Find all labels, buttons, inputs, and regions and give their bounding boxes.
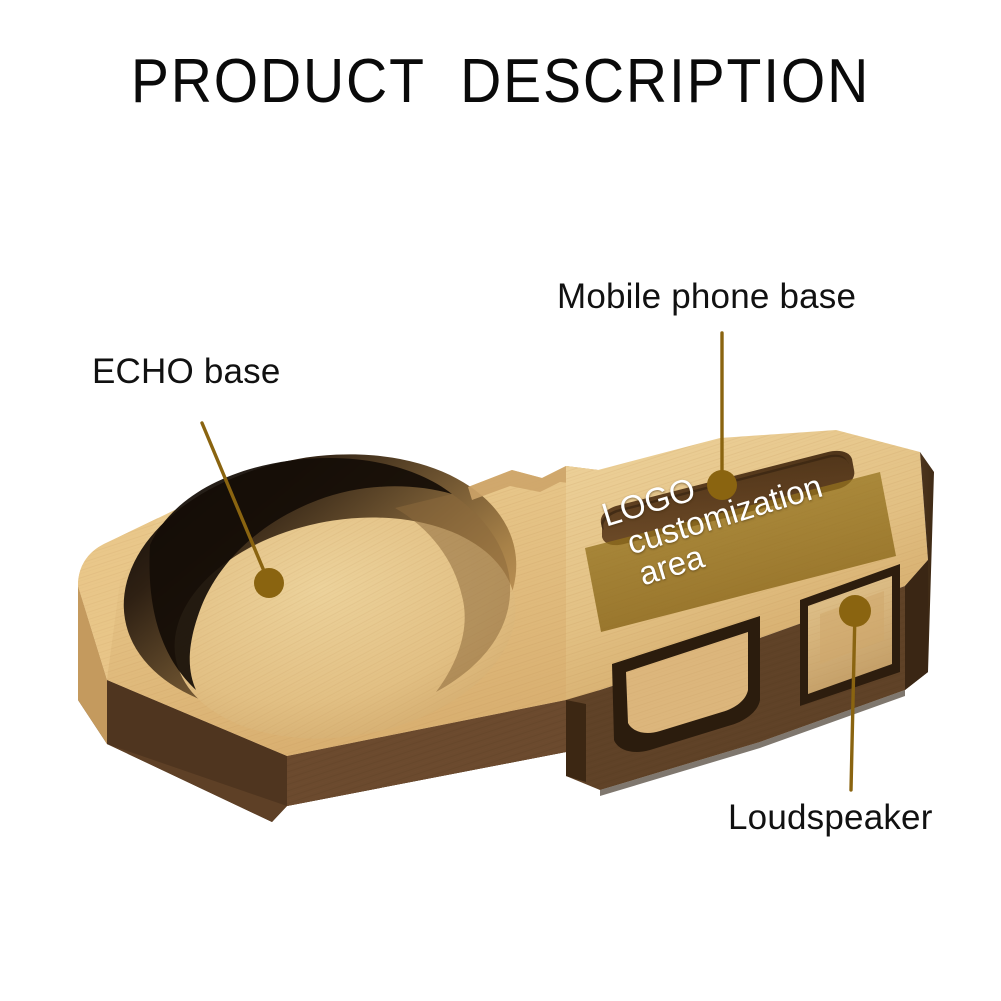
product-illustration <box>0 0 1001 1001</box>
callout-label-loudspeaker: Loudspeaker <box>728 798 933 838</box>
callout-label-echo-base: ECHO base <box>92 352 281 392</box>
block-seam <box>566 700 586 782</box>
product-description-page: PRODUCT DESCRIPTION <box>0 0 1001 1001</box>
callout-label-mobile-phone-base: Mobile phone base <box>557 277 856 317</box>
